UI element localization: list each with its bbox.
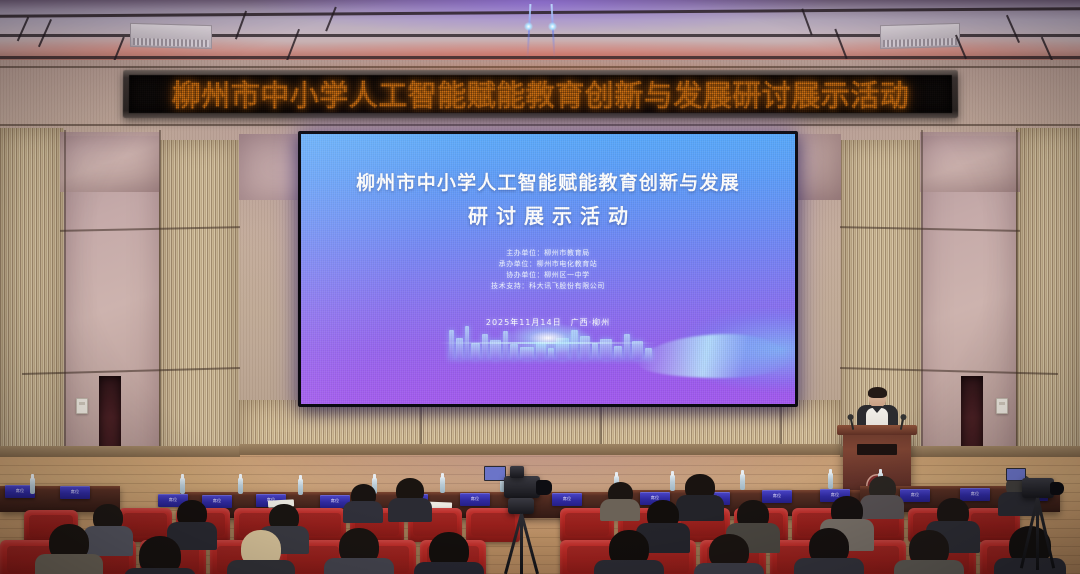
audience-member xyxy=(680,474,720,512)
camera-handle[interactable] xyxy=(510,466,524,478)
audience-member xyxy=(420,532,478,574)
wall-slat-panel-left xyxy=(159,140,239,480)
water-bottle[interactable] xyxy=(440,477,445,493)
projection-screen[interactable]: 柳州市中小学人工智能赋能教育创新与发展 研讨展示活动 主办单位：柳州市教育局 承… xyxy=(301,134,795,404)
wall-panel-left-upper xyxy=(60,132,160,192)
led-banner-screen: 柳州市中小学人工智能赋能教育创新与发展研讨展示活动 xyxy=(129,75,952,113)
audience-member xyxy=(232,530,290,574)
wall-seam-top xyxy=(0,66,1080,68)
speaker-hair xyxy=(868,387,887,398)
camera-lens-icon xyxy=(1050,482,1064,495)
video-camera-rig[interactable] xyxy=(496,462,568,574)
ceiling-beam-rear xyxy=(0,56,1080,59)
wall-switch-right[interactable] xyxy=(996,398,1008,414)
person-torso xyxy=(694,563,764,574)
ceiling-spotlight-left xyxy=(524,22,533,31)
podium-top-surface xyxy=(837,425,917,435)
audience-member xyxy=(900,530,958,574)
wall-vseam-right-a xyxy=(1016,130,1018,480)
led-banner: 柳州市中小学人工智能赋能教育创新与发展研讨展示活动 xyxy=(123,70,958,118)
wall-switch-left[interactable] xyxy=(76,398,88,414)
water-bottle[interactable] xyxy=(30,478,35,494)
person-torso xyxy=(124,568,196,574)
person-torso xyxy=(388,498,432,522)
audience-member xyxy=(600,530,658,574)
water-bottle[interactable] xyxy=(828,473,833,489)
auditorium-photo: 柳州市中小学人工智能赋能教育创新与发展研讨展示活动 柳州市中小学人工智能赋能教育… xyxy=(0,0,1080,574)
water-bottle[interactable] xyxy=(238,478,243,494)
nameplate[interactable]: 席位 xyxy=(900,489,930,502)
person-torso xyxy=(894,560,964,574)
wall-seam-upper xyxy=(0,124,1080,126)
audience-member xyxy=(800,528,858,574)
video-camera-rig-secondary[interactable] xyxy=(1016,466,1080,574)
person-torso xyxy=(414,562,484,574)
person-torso xyxy=(794,558,864,574)
water-bottle[interactable] xyxy=(298,479,303,495)
audience-member xyxy=(345,484,381,516)
person-torso xyxy=(324,558,394,574)
baseboard-center xyxy=(239,444,841,455)
ac-vent-left xyxy=(130,23,212,49)
screen-sheen xyxy=(301,134,795,404)
projection-screen-bezel: 柳州市中小学人工智能赋能教育创新与发展 研讨展示活动 主办单位：柳州市教育局 承… xyxy=(298,131,798,407)
person-torso xyxy=(600,499,640,521)
nameplate[interactable]: 席位 xyxy=(60,486,90,499)
audience-member xyxy=(40,524,98,574)
ac-vent-right xyxy=(880,23,960,49)
water-bottle[interactable] xyxy=(180,478,185,494)
wall-slat-panel-far-right xyxy=(1016,128,1080,480)
camera-lens-icon xyxy=(536,480,552,495)
water-bottle[interactable] xyxy=(670,475,675,491)
led-banner-text: 柳州市中小学人工智能赋能教育创新与发展研讨展示活动 xyxy=(172,75,910,113)
wall-vseam-left-a xyxy=(64,130,66,480)
baseboard-left xyxy=(0,446,240,457)
person-torso xyxy=(594,560,664,574)
person-torso xyxy=(343,501,383,523)
audience-member xyxy=(602,482,638,514)
ceiling xyxy=(0,0,1080,66)
wall-slat-panel-far-left xyxy=(0,128,64,480)
wall-vseam-right-b xyxy=(921,130,923,480)
wall-panel-right-upper xyxy=(920,132,1020,192)
ceiling-spotlight-right xyxy=(548,22,557,31)
podium-front-panel xyxy=(857,444,897,455)
nameplate[interactable]: 席位 xyxy=(460,493,490,506)
wall-vseam-left-b xyxy=(159,130,161,480)
camera-head-mount xyxy=(508,498,534,514)
water-bottle[interactable] xyxy=(740,474,745,490)
camera-body xyxy=(504,476,540,498)
audience-member xyxy=(130,536,190,574)
audience-member xyxy=(330,528,388,574)
audience-member xyxy=(700,534,758,574)
person-torso xyxy=(35,554,103,574)
audience-member xyxy=(390,478,430,514)
person-torso xyxy=(227,560,295,574)
camera-monitor-icon[interactable] xyxy=(484,466,506,481)
